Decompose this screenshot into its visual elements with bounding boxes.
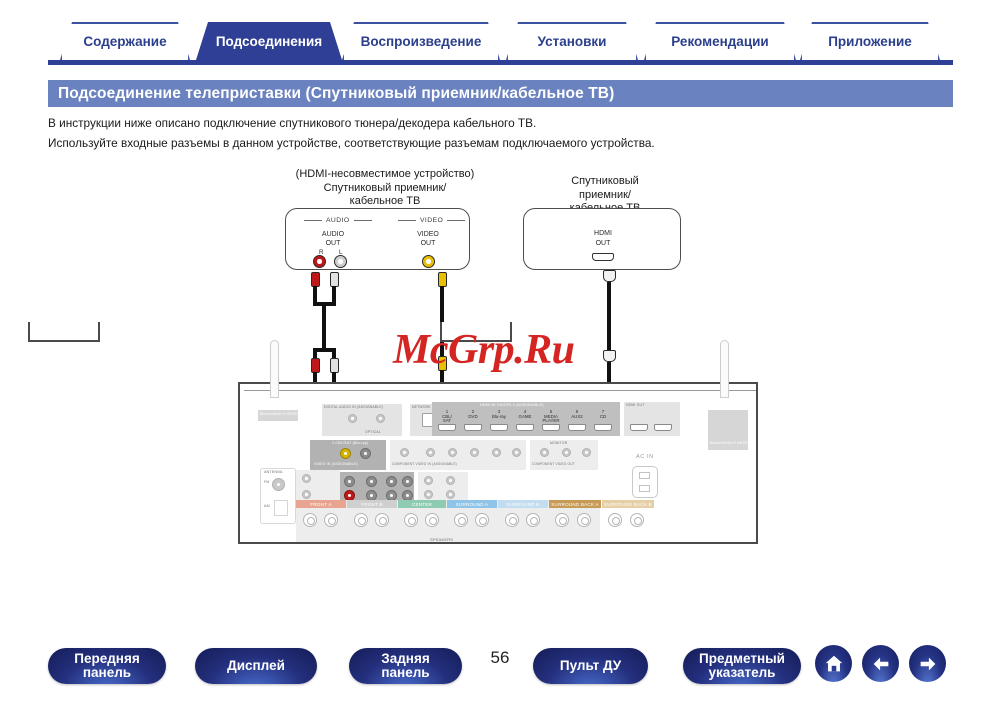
- receiver-foot-left: [28, 322, 100, 342]
- ac-pin-bottom: [639, 485, 650, 492]
- body-text-line-2: Используйте входные разъемы в данном уст…: [48, 136, 655, 150]
- right-caption-line-1: Спутниковый: [505, 175, 705, 189]
- left-caption-line-1: (HDMI-несовместимое устройство): [255, 168, 515, 182]
- forward-arrow-icon: [917, 653, 939, 675]
- speaker-zone-label: FRONT B: [347, 500, 397, 508]
- speaker-terminal: [303, 513, 317, 527]
- audio-in-jack-tl: [344, 476, 355, 487]
- tab-recommendations[interactable]: Рекомендации: [644, 22, 796, 60]
- digital-audio-in-label: DIGITAL AUDIO IN (ASSIGNABLE): [324, 405, 383, 409]
- rear-panel-button[interactable]: Задняя панель: [349, 648, 462, 684]
- tab-label: Подсоединения: [216, 34, 322, 49]
- hdmi-bank-title: HDMI 4K /HDCP2.2 (ASSIGNABLE): [480, 403, 544, 407]
- hdmi-port-2-slot: [464, 424, 482, 431]
- speaker-zone-surround-back-a: SURROUND BACK A: [549, 500, 601, 536]
- am-antenna-terminal: [274, 500, 288, 516]
- audio-in-jack-t3: [386, 476, 397, 487]
- page-number: 56: [478, 648, 522, 668]
- right-caption-line-2: приемник/: [505, 189, 705, 203]
- speaker-terminal: [608, 513, 622, 527]
- hdmi-port-6-slot: [568, 424, 586, 431]
- am-label: AM: [264, 504, 270, 508]
- hdmi-port-5-slot: [542, 424, 560, 431]
- tab-label: Воспроизведение: [361, 34, 482, 49]
- body-text-line-1: В инструкции ниже описано подключение сп…: [48, 116, 536, 130]
- hdmi-out-plate-label: HDMI OUT: [626, 403, 644, 407]
- hdmi-plug-top: [603, 270, 616, 282]
- speaker-zone-label: FRONT A: [296, 500, 346, 508]
- speaker-zone-surround-b: SURROUND B: [498, 500, 548, 536]
- audio-out-l-jack: [334, 255, 347, 268]
- speaker-terminal: [526, 513, 540, 527]
- index-label-1: Предметный: [699, 652, 785, 667]
- tab-connections[interactable]: Подсоединения: [196, 22, 342, 60]
- antenna-stalk-left: [270, 340, 279, 398]
- receiver-foot-right: [440, 322, 512, 342]
- hdmi-cable-upper: [607, 282, 611, 352]
- pre-out-jack-1: [424, 476, 433, 485]
- audio-out-label-1: AUDIO: [312, 230, 354, 239]
- speakers-strip-label: SPEAKERS: [430, 537, 453, 542]
- tab-settings[interactable]: Установки: [506, 22, 638, 60]
- bluetooth-wifi-antenna-label-right: Bluetooth/Wi-Fi ANTENNA: [710, 441, 755, 445]
- pre-out-jack-3: [424, 490, 433, 499]
- network-label: NETWORK: [412, 405, 431, 409]
- monitor-label: MONITOR: [550, 441, 567, 445]
- index-label-2: указатель: [709, 666, 776, 681]
- pre-out-jack-2: [446, 476, 455, 485]
- hdmi-out-slot-2: [654, 424, 672, 431]
- speaker-zone-surround-a: SURROUND A: [447, 500, 497, 536]
- video-group-label: VIDEO: [398, 217, 465, 224]
- speaker-zone-label: SURROUND B: [498, 500, 548, 508]
- hdmi-port-3-name-1: Blu-ray: [488, 414, 510, 419]
- speaker-zone-label: SURROUND BACK B: [602, 500, 654, 508]
- hdmi-port-5-name-2: PLAYER: [540, 418, 562, 423]
- left-caption-line-3: кабельное ТВ: [255, 195, 515, 209]
- hdmi-plug-mid: [603, 350, 616, 362]
- ac-in-socket: [632, 466, 658, 498]
- speaker-zone-front-a: FRONT A: [296, 500, 346, 536]
- component-video-out-label: COMPONENT VIDEO OUT: [532, 462, 575, 466]
- rca-plug-red-top: [311, 272, 320, 287]
- comp-in-jack-2: [426, 448, 435, 457]
- fm-label: FM: [264, 480, 270, 484]
- speaker-terminal: [555, 513, 569, 527]
- optical-label: OPTICAL: [365, 430, 381, 434]
- speaker-zone-front-b: FRONT B: [347, 500, 397, 536]
- hdmi-out-port: [592, 253, 614, 261]
- speaker-zone-surround-back-b: SURROUND BACK B: [602, 500, 654, 536]
- audio-left-jack-1: [302, 474, 311, 483]
- tab-underline: [48, 60, 953, 65]
- audio-in-jack-t4: [402, 476, 413, 487]
- antenna-block-label: ANTENNA: [264, 470, 283, 474]
- speaker-zone-center: CENTER: [398, 500, 446, 536]
- display-label: Дисплей: [227, 659, 285, 673]
- hdmi-out-label-1: HDMI: [583, 229, 623, 238]
- hdmi-port-4-name-1: GAME: [514, 414, 536, 419]
- back-button[interactable]: [862, 645, 899, 682]
- remote-button[interactable]: Пульт ДУ: [533, 648, 648, 684]
- comp-in-jack-5: [492, 448, 501, 457]
- comp-in-jack-1: [400, 448, 409, 457]
- rca-plug-white-top: [330, 272, 339, 287]
- left-caption-line-2: Спутниковый приемник/: [255, 182, 515, 196]
- comp-in-jack-4: [470, 448, 479, 457]
- tab-appendix[interactable]: Приложение: [800, 22, 940, 60]
- receiver-top-trim: [244, 390, 756, 391]
- speaker-terminal: [354, 513, 368, 527]
- component-video-in-label: COMPONENT VIDEO IN (ASSIGNABLE): [392, 462, 457, 466]
- pre-out-jack-4: [446, 490, 455, 499]
- hdmi-port-7-name-1: CD: [592, 414, 614, 419]
- antenna-stalk-right: [720, 340, 729, 398]
- video-out-jack: [422, 255, 435, 268]
- speaker-zone-label: CENTER: [398, 500, 446, 508]
- video-out-label-1: VIDEO: [407, 230, 449, 239]
- front-panel-button[interactable]: Передняя панель: [48, 648, 166, 684]
- audio-left-jack-2: [302, 490, 311, 499]
- speaker-zone-label: SURROUND A: [447, 500, 497, 508]
- index-button[interactable]: Предметный указатель: [683, 648, 801, 684]
- ac-pin-top: [639, 472, 650, 479]
- rca-plug-red-mid: [311, 358, 320, 373]
- display-button[interactable]: Дисплей: [195, 648, 317, 684]
- tab-contents[interactable]: Содержание: [60, 22, 190, 60]
- hdmi-out-label-2: OUT: [583, 239, 623, 248]
- rca-plug-yellow-mid: [438, 356, 447, 371]
- video-in-extra-jack: [360, 448, 371, 459]
- remote-label: Пульт ДУ: [560, 659, 621, 673]
- audio-in-jack-t2: [366, 476, 377, 487]
- comp-in-jack-3: [448, 448, 457, 457]
- speaker-terminal: [324, 513, 338, 527]
- audio-cable-trunk: [322, 302, 326, 350]
- bluetooth-wifi-antenna-label-left: Bluetooth/Wi-Fi ANTENNA: [260, 412, 305, 416]
- forward-button[interactable]: [909, 645, 946, 682]
- tab-playback[interactable]: Воспроизведение: [342, 22, 500, 60]
- speaker-terminal: [577, 513, 591, 527]
- hdmi-port-7-slot: [594, 424, 612, 431]
- right-device-box: HDMI OUT: [523, 208, 681, 270]
- rca-plug-yellow-top: [438, 272, 447, 287]
- page-root: Содержание Подсоединения Воспроизведение…: [0, 0, 1000, 705]
- comp-out-jack-3: [582, 448, 591, 457]
- speaker-terminal: [630, 513, 644, 527]
- hdmi-port-1-name-2: SAT: [436, 418, 458, 423]
- speaker-terminal: [375, 513, 389, 527]
- video-out-label-2: OUT: [407, 239, 449, 248]
- audio-group-label: AUDIO: [304, 217, 372, 224]
- speaker-terminal: [505, 513, 519, 527]
- speaker-zone-label: SURROUND BACK A: [549, 500, 601, 508]
- home-button[interactable]: [815, 645, 852, 682]
- comp-out-jack-1: [540, 448, 549, 457]
- comp-out-jack-2: [562, 448, 571, 457]
- audio-out-label-2: OUT: [312, 239, 354, 248]
- tab-label: Установки: [538, 34, 607, 49]
- rear-panel-label-1: Задняя: [381, 652, 429, 667]
- front-panel-label-2: панель: [83, 666, 131, 681]
- hdmi-port-1-slot: [438, 424, 456, 431]
- hdmi-out-slot-1: [630, 424, 648, 431]
- tab-label: Приложение: [828, 34, 912, 49]
- hdmi-port-4-slot: [516, 424, 534, 431]
- video-in-cbl-sat-jack: [340, 448, 351, 459]
- front-panel-label-1: Передняя: [74, 652, 139, 667]
- coaxial-digital-jack: [348, 414, 357, 423]
- rca-plug-white-mid: [330, 358, 339, 373]
- speaker-terminal: [475, 513, 489, 527]
- rear-panel-label-2: панель: [381, 666, 429, 681]
- cbl-sat-jack-label: 1 CBL/SAT (Blu-ray): [332, 441, 368, 445]
- speaker-terminal: [425, 513, 439, 527]
- connection-diagram: (HDMI-несовместимое устройство) Спутнико…: [0, 160, 1000, 620]
- audio-out-r-jack: [313, 255, 326, 268]
- hdmi-port-3-slot: [490, 424, 508, 431]
- optical-digital-jack-1: [376, 414, 385, 423]
- speaker-terminal: [454, 513, 468, 527]
- video-in-plate-label: VIDEO IN (ASSIGNABLE): [314, 462, 358, 466]
- bottom-navigation: Передняя панель Дисплей Задняя панель 56…: [0, 640, 1000, 690]
- tab-label: Содержание: [83, 34, 166, 49]
- av-receiver-rear-panel: Bluetooth/Wi-Fi ANTENNA Bluetooth/Wi-Fi …: [238, 382, 758, 544]
- comp-in-jack-6: [512, 448, 521, 457]
- page-title: Подсоединение телеприставки (Спутниковый…: [48, 80, 953, 107]
- home-icon: [823, 653, 845, 675]
- tab-label: Рекомендации: [671, 34, 768, 49]
- left-device-box: AUDIO VIDEO AUDIO OUT VIDEO OUT R L: [285, 208, 470, 270]
- hdmi-port-6-name-1: AUX2: [566, 414, 588, 419]
- fm-antenna-jack: [272, 478, 285, 491]
- speaker-terminal: [404, 513, 418, 527]
- hdmi-port-2-name-1: DVD: [462, 414, 484, 419]
- left-device-caption: (HDMI-несовместимое устройство) Спутнико…: [255, 168, 515, 209]
- back-arrow-icon: [870, 653, 892, 675]
- ac-in-label: AC IN: [636, 454, 654, 460]
